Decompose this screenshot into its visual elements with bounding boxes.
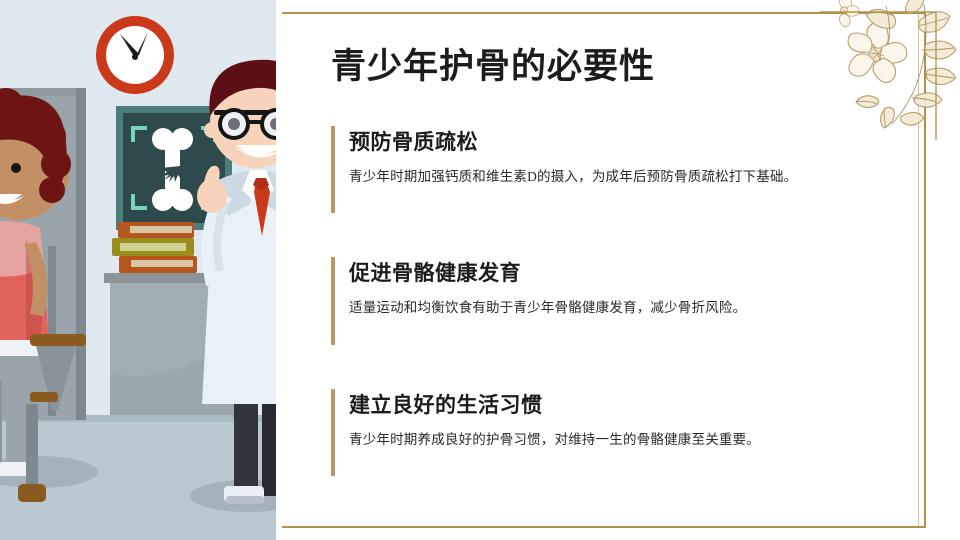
book-stack <box>112 222 197 273</box>
frame-border-bottom <box>282 526 926 528</box>
frame-border-right-inner <box>918 12 919 528</box>
block-spacer <box>349 450 901 476</box>
floral-corner-ornament <box>820 0 960 140</box>
block-body: 青少年时期养成良好的护骨习惯，对维持一生的骨骼健康至关重要。 <box>349 430 901 450</box>
block-body: 青少年时期加强钙质和维生素D的摄入，为成年后预防骨质疏松打下基础。 <box>349 167 901 187</box>
block-heading: 促进骨骼健康发育 <box>349 257 901 287</box>
clinic-illustration <box>0 0 282 540</box>
accent-bar <box>331 257 335 344</box>
block-heading: 建立良好的生活习惯 <box>349 389 901 419</box>
page-title: 青少年护骨的必要性 <box>331 38 655 89</box>
block-body: 适量运动和均衡饮食有助于青少年骨骼健康发育，减少骨折风险。 <box>349 298 901 318</box>
content-block: 促进骨骼健康发育 适量运动和均衡饮食有助于青少年骨骼健康发育，减少骨折风险。 <box>331 257 901 344</box>
wall-clock <box>96 16 174 94</box>
frame-border-right <box>924 12 926 528</box>
accent-bar <box>331 126 335 213</box>
slide-canvas: 青少年护骨的必要性 预防骨质疏松 青少年时期加强钙质和维生素D的摄入，为成年后预… <box>0 0 960 540</box>
content-block: 预防骨质疏松 青少年时期加强钙质和维生素D的摄入，为成年后预防骨质疏松打下基础。 <box>331 126 901 213</box>
content-block: 建立良好的生活习惯 青少年时期养成良好的护骨习惯，对维持一生的骨骼健康至关重要。 <box>331 389 901 476</box>
accent-bar <box>331 389 335 476</box>
content-block-list: 预防骨质疏松 青少年时期加强钙质和维生素D的摄入，为成年后预防骨质疏松打下基础。… <box>331 126 901 476</box>
frame-border-top <box>282 12 926 14</box>
block-spacer <box>349 319 901 345</box>
block-spacer <box>349 187 901 213</box>
block-heading: 预防骨质疏松 <box>349 126 901 156</box>
